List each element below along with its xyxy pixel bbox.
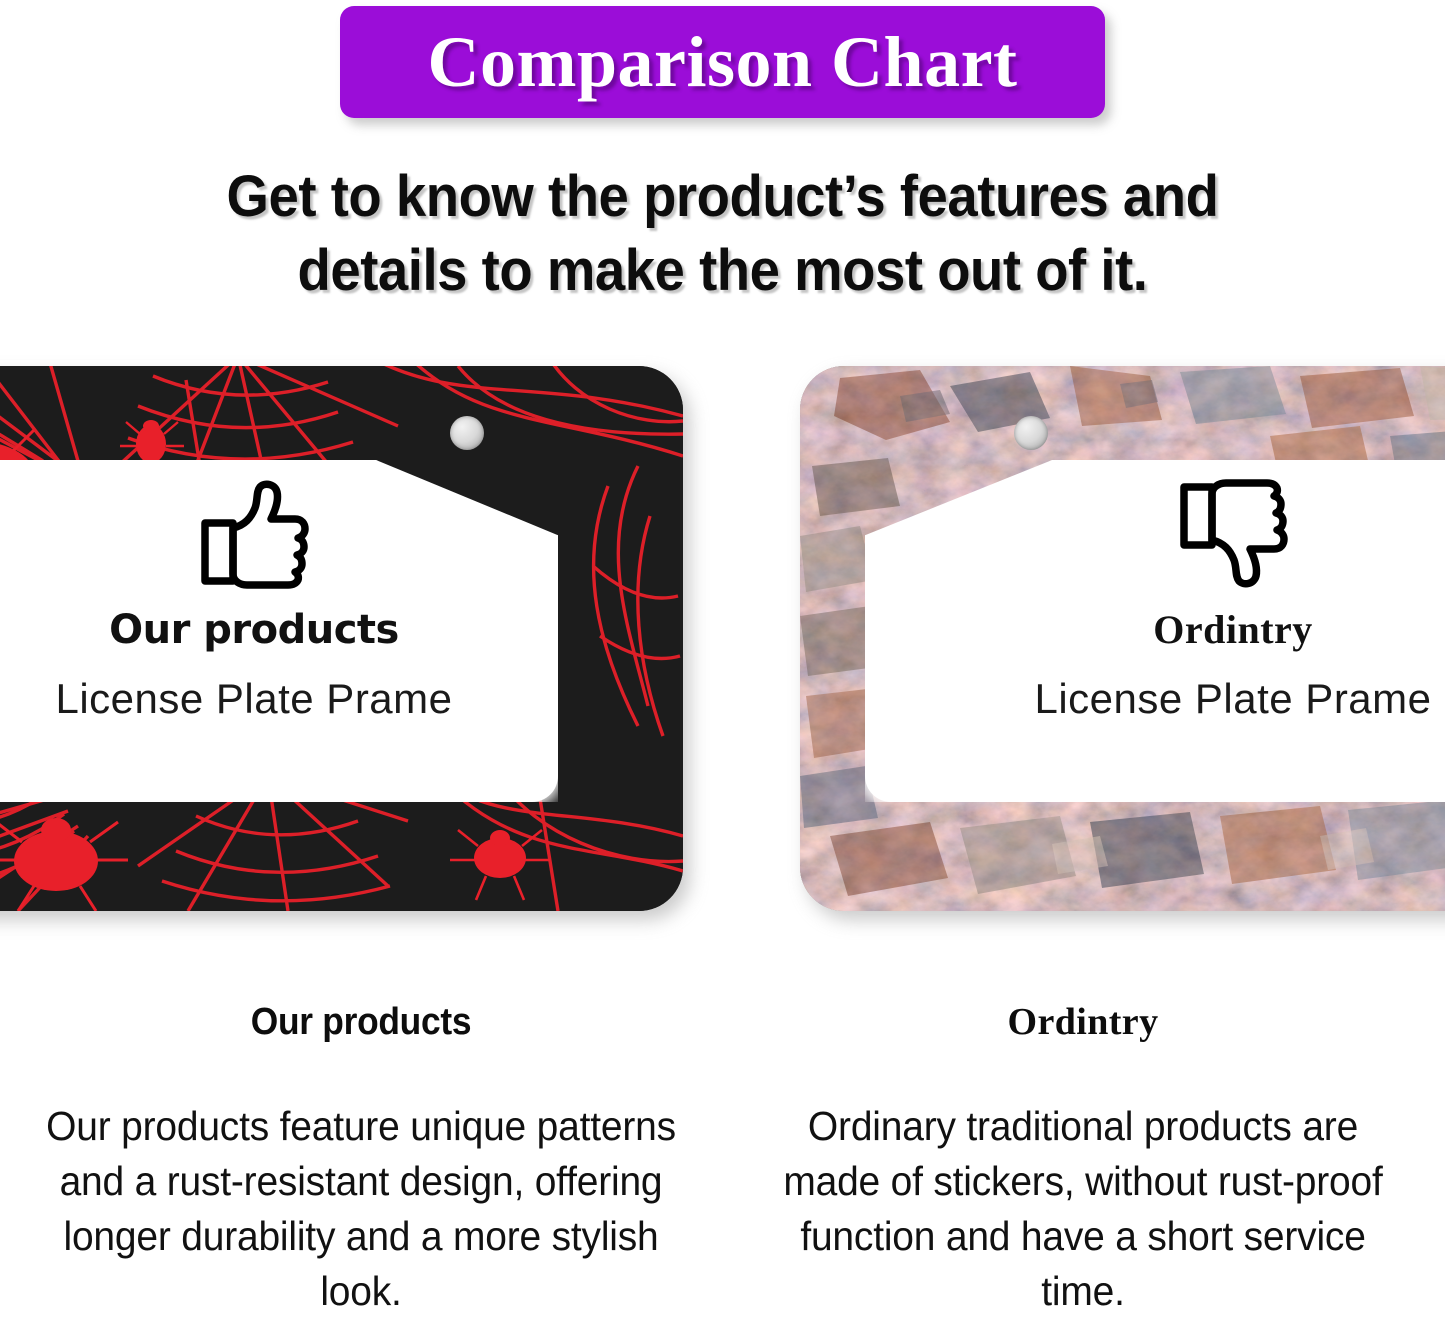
left-window-content: Our products License Plate Prame [0, 460, 558, 802]
right-frame-body: Ordintry License Plate Prame [800, 366, 1445, 911]
right-description-column: Ordintry Ordinary traditional products a… [722, 985, 1444, 1314]
left-plate-window: Our products License Plate Prame [0, 460, 558, 802]
right-column-body: Ordinary traditional products are made o… [740, 1099, 1426, 1319]
subtitle: Get to know the product’s features and d… [43, 160, 1401, 308]
left-column-heading: Our products [25, 1003, 696, 1041]
right-product-label: License Plate Prame [1034, 678, 1431, 720]
title-banner: Comparison Chart [340, 6, 1105, 118]
subtitle-line-1: Get to know the product’s features and [43, 160, 1401, 234]
left-product-label: License Plate Prame [55, 678, 452, 720]
descriptions-row: Our products Our products feature unique… [0, 985, 1445, 1314]
header-zone: Comparison Chart Get to know the product… [0, 0, 1445, 330]
product-frames-row: Our products License Plate Prame [0, 366, 1445, 916]
left-brand-label: Our products [109, 610, 399, 650]
right-plate-window: Ordintry License Plate Prame [865, 460, 1445, 802]
left-product-frame: Our products License Plate Prame [0, 366, 683, 911]
thumbs-up-icon [195, 478, 313, 590]
right-product-frame: Ordintry License Plate Prame [800, 366, 1445, 911]
left-column-body: Our products feature unique patterns and… [18, 1099, 704, 1319]
mounting-hole [1014, 416, 1048, 450]
page-title: Comparison Chart [427, 26, 1017, 98]
left-description-column: Our products Our products feature unique… [0, 985, 722, 1314]
mounting-hole [450, 416, 484, 450]
right-brand-label: Ordintry [1153, 610, 1313, 650]
subtitle-line-2: details to make the most out of it. [43, 234, 1401, 308]
right-window-content: Ordintry License Plate Prame [865, 460, 1445, 802]
left-frame-body: Our products License Plate Prame [0, 366, 683, 911]
thumbs-down-icon [1174, 478, 1292, 590]
right-column-heading: Ordintry [722, 1003, 1444, 1041]
